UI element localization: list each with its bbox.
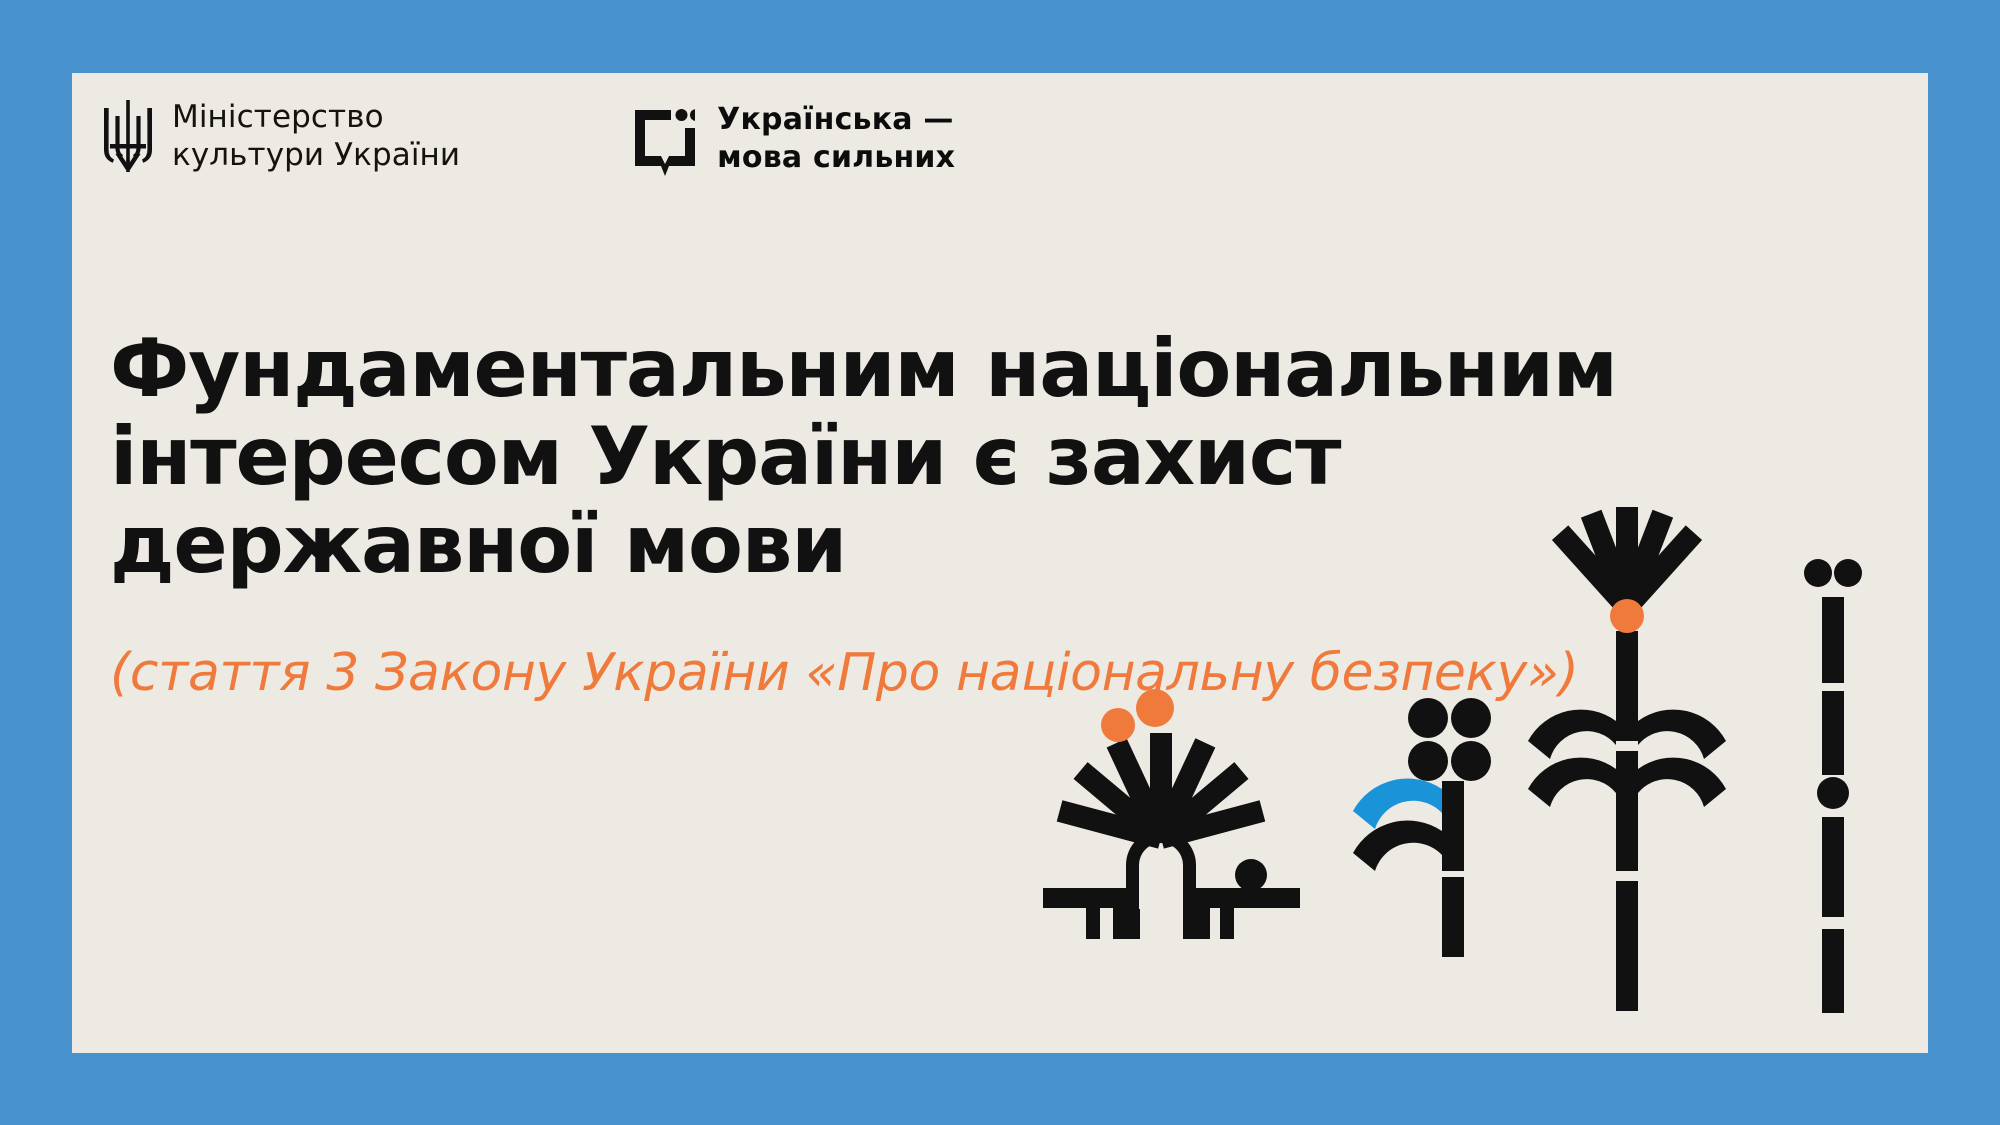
- campaign-logo: Українська — мова сильних: [635, 98, 955, 180]
- poster-canvas: Міністерство культури України: [0, 0, 2000, 1125]
- dashed-stem-bud: [1804, 559, 1862, 1013]
- ukrainian-language-mark-icon: [635, 98, 695, 180]
- sunburst-flower: [1043, 689, 1300, 939]
- poster-card: Міністерство культури України: [72, 73, 1928, 1053]
- page-title: Фундаментальним національним інтересом У…: [110, 325, 1630, 589]
- ukraine-trident-icon: [102, 98, 154, 174]
- blue-leaf: [1353, 779, 1442, 829]
- ministry-logo: Міністерство культури України: [102, 98, 460, 175]
- ministry-logo-label: Міністерство культури України: [172, 98, 460, 175]
- page-subtitle-citation: (стаття 3 Закону України «Про національн…: [110, 645, 1578, 702]
- logo-bar: Міністерство культури України: [102, 98, 955, 180]
- campaign-logo-label: Українська — мова сильних: [717, 101, 955, 177]
- sunburst-dot-1: [1101, 708, 1135, 742]
- four-dot-flower: [1353, 698, 1491, 957]
- fan-flower-center-dot: [1610, 599, 1644, 633]
